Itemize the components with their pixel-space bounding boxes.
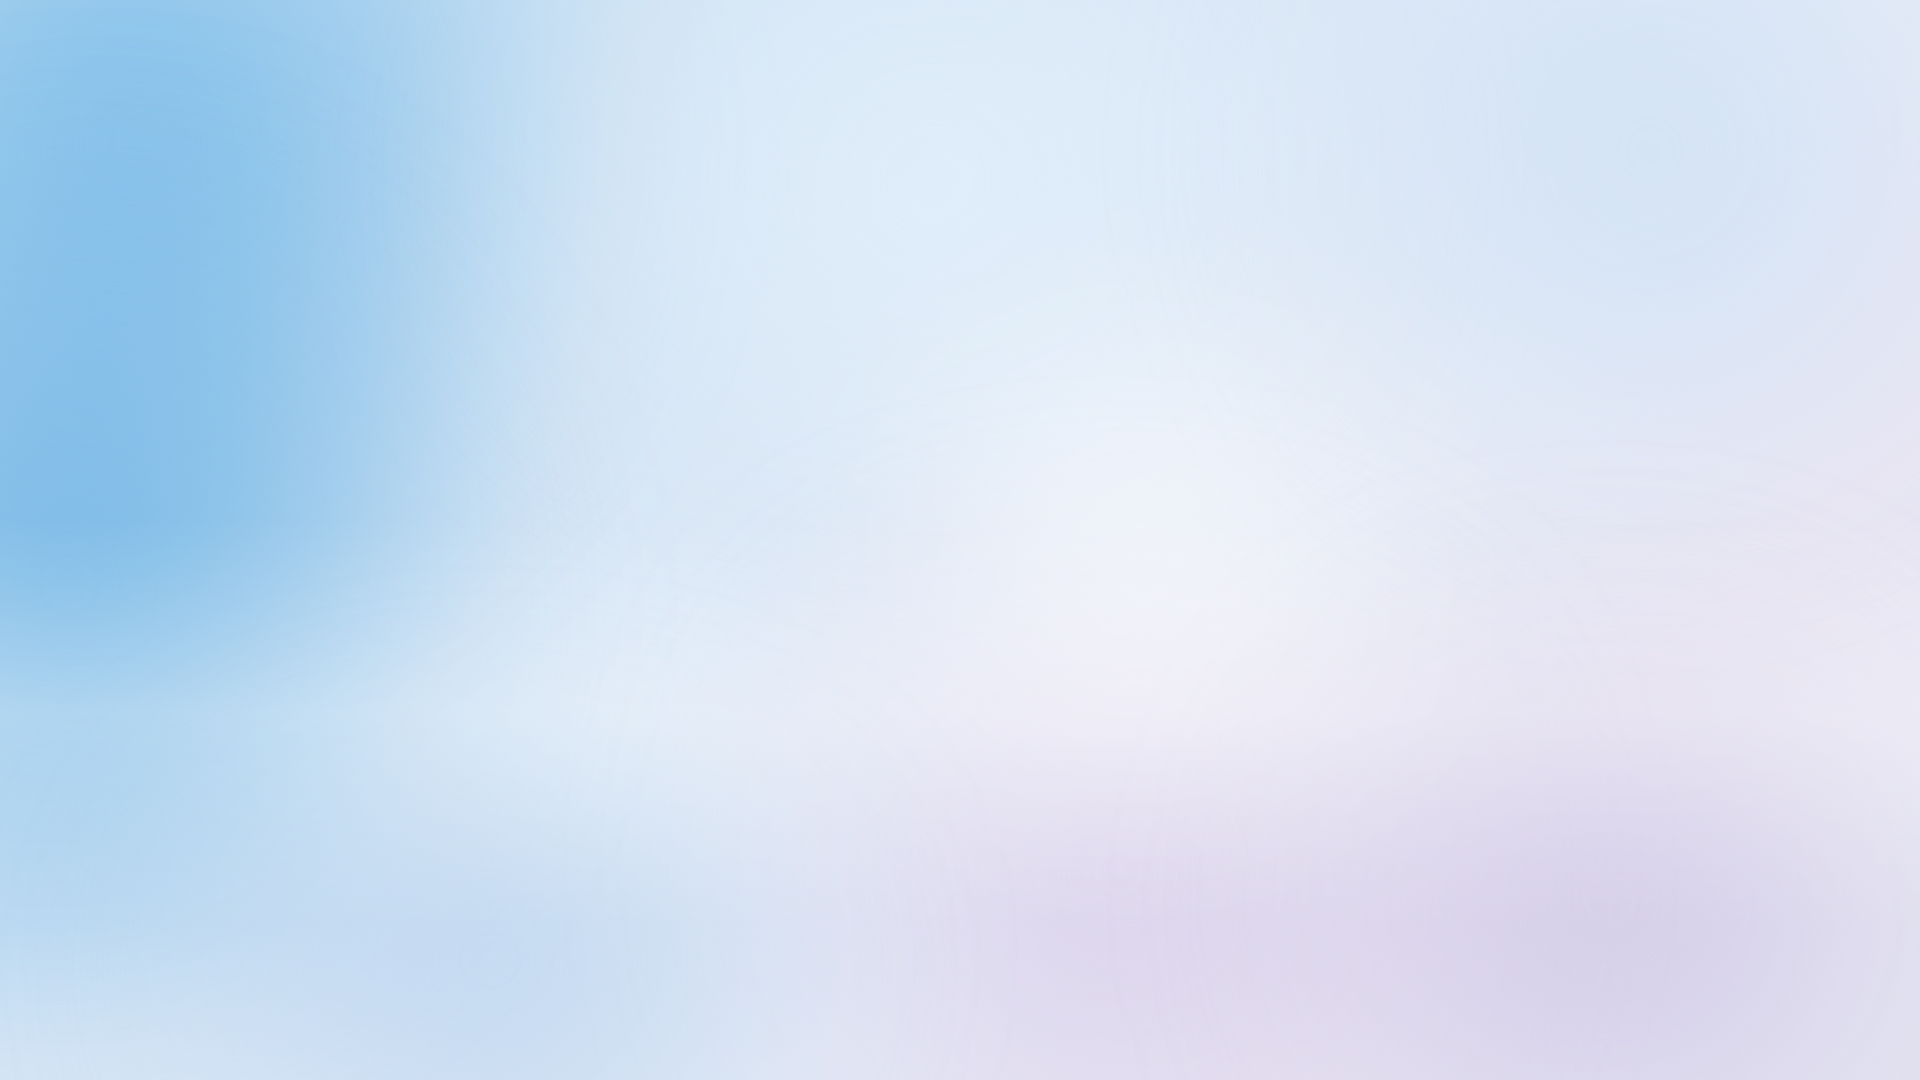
process-chevron-band (0, 369, 1920, 461)
background-sheen (0, 0, 1920, 1080)
diagram-canvas (0, 0, 1920, 1080)
